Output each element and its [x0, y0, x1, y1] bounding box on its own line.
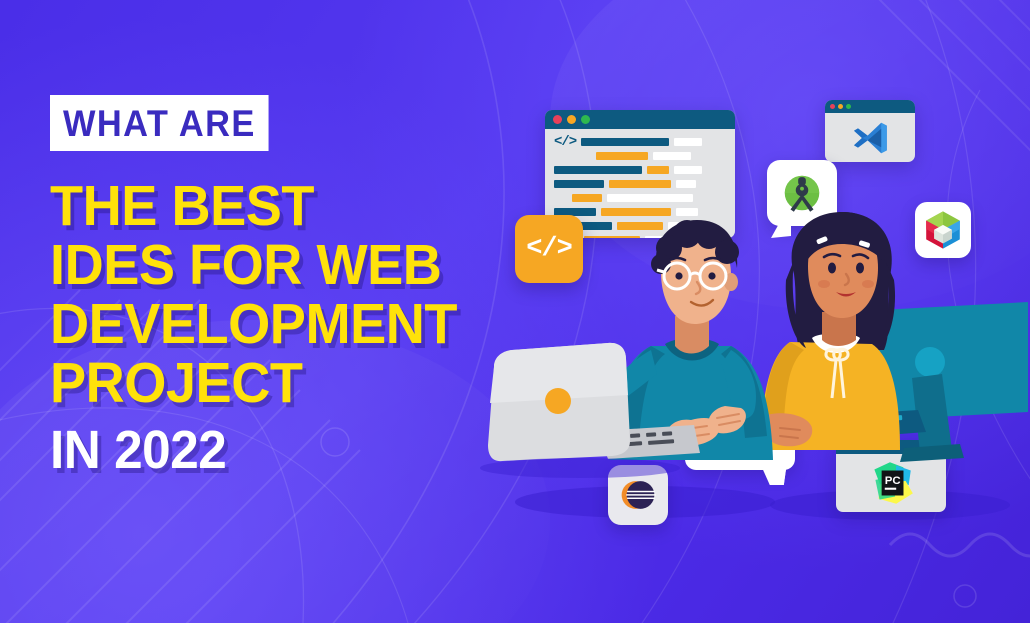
title-line-2: IDES FOR WEB — [50, 238, 497, 292]
title-line-3: DEVELOPMENT — [50, 297, 497, 351]
editor-title-bar — [545, 110, 735, 129]
minimize-icon[interactable] — [838, 104, 843, 109]
minimize-icon[interactable] — [567, 115, 576, 124]
banner-stage: WHAT ARE THE BEST IDES FOR WEB DEVELOPME… — [0, 0, 1030, 623]
laptop-logo — [545, 388, 571, 414]
vscode-window[interactable] — [825, 100, 915, 162]
kicker-label: WHAT ARE — [50, 95, 269, 151]
illustration-group: </> — [470, 60, 1030, 580]
headline-group: WHAT ARE THE BEST IDES FOR WEB DEVELOPME… — [50, 95, 520, 481]
title-line-1: THE BEST — [50, 179, 497, 233]
code-slash-glyph: </> — [554, 135, 576, 149]
vscode-title-bar — [825, 100, 915, 113]
maximize-icon[interactable] — [846, 104, 851, 109]
code-slash-badge-label: </> — [526, 234, 572, 264]
close-icon[interactable] — [830, 104, 835, 109]
page-title: THE BEST IDES FOR WEB DEVELOPMENT PROJEC… — [50, 179, 520, 476]
bubble-tail — [760, 468, 786, 485]
code-slash-badge[interactable]: </> — [515, 215, 583, 283]
vscode-icon — [825, 113, 915, 162]
close-icon[interactable] — [553, 115, 562, 124]
title-line-5: IN 2022 — [50, 425, 497, 476]
title-line-4: PROJECT — [50, 356, 497, 410]
maximize-icon[interactable] — [581, 115, 590, 124]
